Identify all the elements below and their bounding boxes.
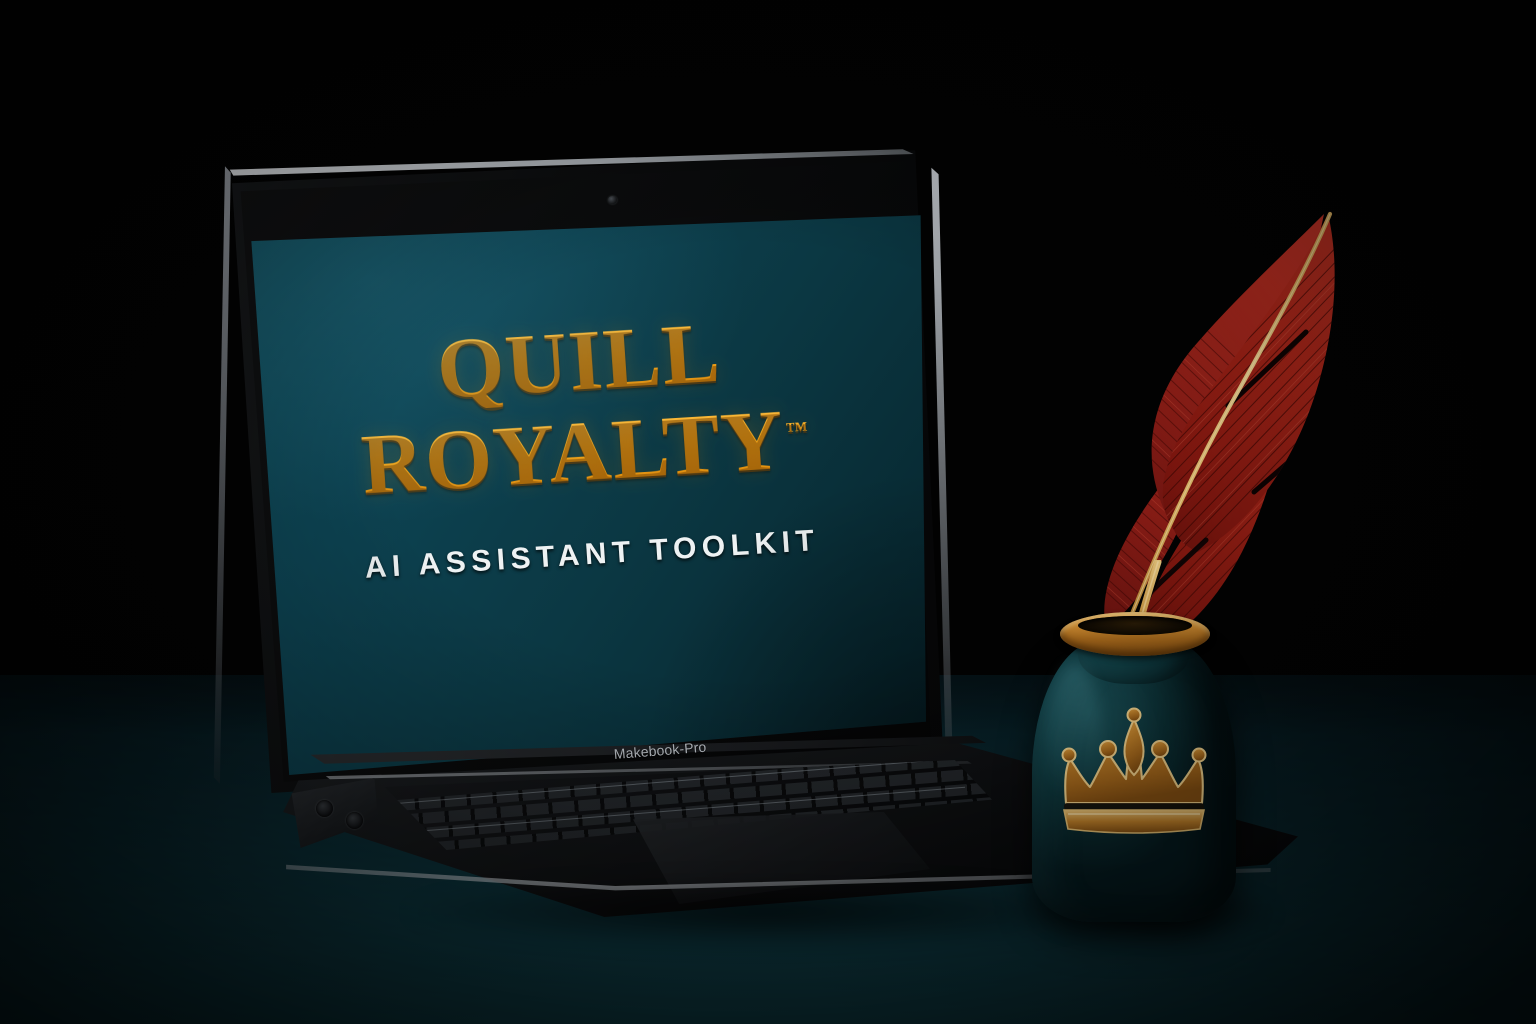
quill-and-inkwell: [0, 0, 1536, 1024]
crown-icon: [1048, 705, 1220, 837]
feather-quill-icon: [1078, 192, 1368, 652]
product-scene: QUILL ROYALTY™ AI ASSISTANT TOOLKIT Make…: [0, 0, 1536, 1024]
inkwell-opening: [1078, 616, 1192, 635]
